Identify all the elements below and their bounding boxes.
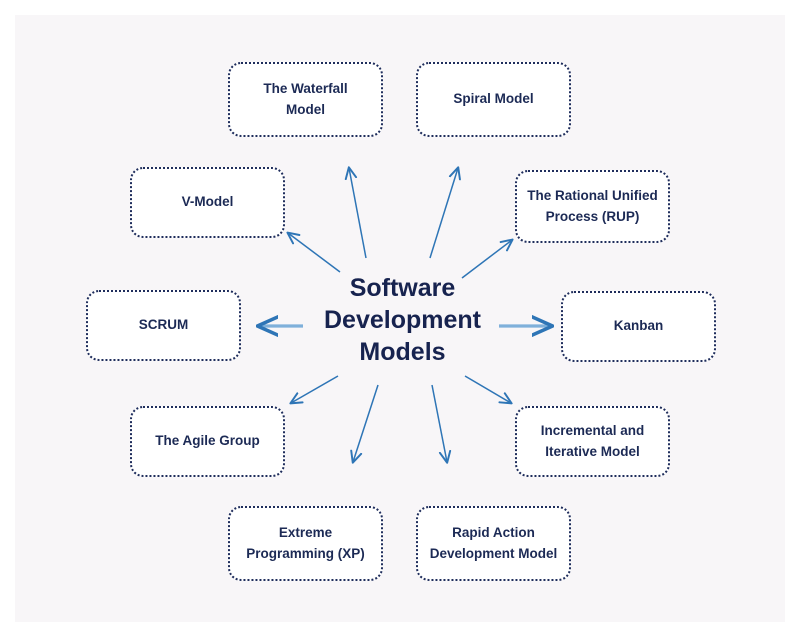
center-title: Software Development Models <box>300 266 505 374</box>
node-label-rup: The Rational Unified Process (RUP) <box>527 186 658 228</box>
node-label-xp: Extreme Programming (XP) <box>246 523 365 565</box>
node-scrum[interactable]: SCRUM <box>86 290 241 361</box>
node-label-scrum: SCRUM <box>139 315 189 336</box>
node-kanban[interactable]: Kanban <box>561 291 716 362</box>
center-title-text: Software Development Models <box>324 272 481 368</box>
node-rad[interactable]: Rapid Action Development Model <box>416 506 571 581</box>
node-label-incremental: Incremental and Iterative Model <box>541 421 645 463</box>
node-label-kanban: Kanban <box>614 316 664 337</box>
node-label-v-model: V-Model <box>182 192 234 213</box>
node-label-waterfall: The Waterfall Model <box>263 79 347 121</box>
node-v-model[interactable]: V-Model <box>130 167 285 238</box>
node-incremental[interactable]: Incremental and Iterative Model <box>515 406 670 477</box>
node-label-agile-group: The Agile Group <box>155 431 260 452</box>
node-rup[interactable]: The Rational Unified Process (RUP) <box>515 170 670 243</box>
node-spiral[interactable]: Spiral Model <box>416 62 571 137</box>
node-xp[interactable]: Extreme Programming (XP) <box>228 506 383 581</box>
node-label-spiral: Spiral Model <box>453 89 533 110</box>
node-agile-group[interactable]: The Agile Group <box>130 406 285 477</box>
node-label-rad: Rapid Action Development Model <box>430 523 558 565</box>
node-waterfall[interactable]: The Waterfall Model <box>228 62 383 137</box>
